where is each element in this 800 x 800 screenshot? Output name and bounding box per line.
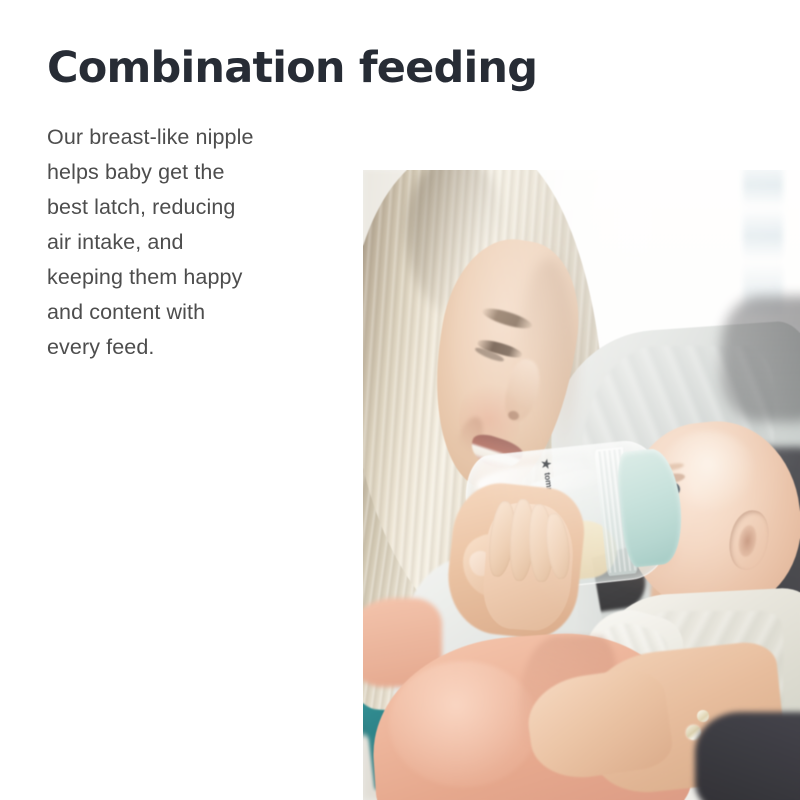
star-icon [540,458,552,470]
body-line: keeping them happy [47,260,322,295]
baby-pants-knee [389,661,538,787]
body-line: Our breast-like nipple [47,120,322,155]
photo-inner: tommee tippee closer to nature [363,170,800,800]
body-paragraph: Our breast-like nipple helps baby get th… [47,120,322,365]
body-line: and content with [47,295,322,330]
body-line: air intake, and [47,225,322,260]
mother-dark-top-far [721,296,800,422]
photo-shadow-bottom-right [695,712,800,800]
text-column: Combination feeding Our breast-like nipp… [47,46,337,365]
body-line: every feed. [47,330,322,365]
page-title: Combination feeding [47,46,337,91]
product-lifestyle-photo: tommee tippee closer to nature [363,170,800,800]
body-line: best latch, reducing [47,190,322,225]
mother-ring [697,710,708,722]
body-line: helps baby get the [47,155,322,190]
page-root: Combination feeding Our breast-like nipp… [0,0,800,800]
